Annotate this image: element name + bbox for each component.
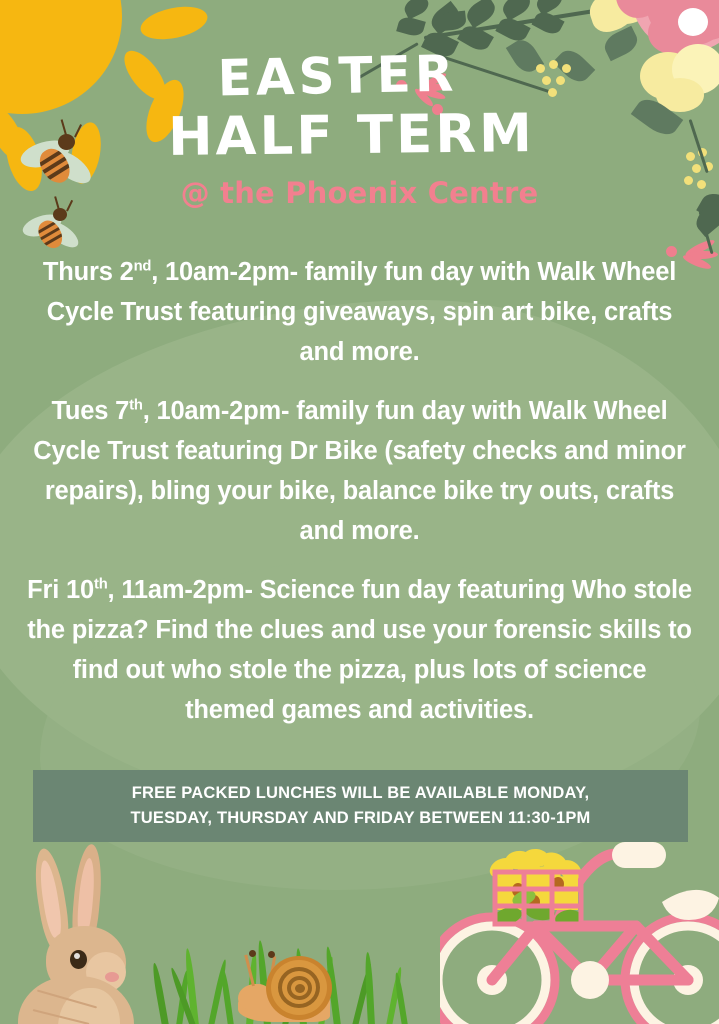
bicycle-illustration: [440, 840, 719, 1024]
event-paragraph: Fri 10th, 11am-2pm- Science fun day feat…: [20, 570, 699, 730]
free-lunch-line-1: FREE PACKED LUNCHES WILL BE AVAILABLE MO…: [132, 781, 590, 806]
event-paragraph: Tues 7th, 10am-2pm- family fun day with …: [20, 391, 699, 551]
event-date-ordinal: nd: [134, 259, 152, 275]
event-day-label: Thurs: [43, 258, 120, 286]
free-lunch-line-2: TUESDAY, THURSDAY AND FRIDAY BETWEEN 11:…: [130, 806, 590, 831]
event-description: , 11am-2pm- Science fun day featuring Wh…: [27, 576, 692, 724]
snail-illustration: [238, 948, 334, 1024]
free-lunch-banner: FREE PACKED LUNCHES WILL BE AVAILABLE MO…: [33, 770, 688, 842]
rabbit-illustration: [14, 848, 164, 1024]
poster-title-line-2: HALF TERM: [0, 106, 711, 165]
event-paragraph: Thurs 2nd, 10am-2pm- family fun day with…: [20, 252, 699, 372]
event-date-ordinal: th: [129, 398, 143, 414]
event-day-label: Tues: [51, 397, 115, 425]
bike-pedal-crank-icon: [571, 961, 609, 999]
poster-root: EASTER HALF TERM @ the Phoenix Centre Th…: [0, 0, 719, 1024]
event-date-number: 10: [66, 576, 94, 604]
event-date-number: 2: [120, 258, 134, 286]
event-date-ordinal: th: [94, 577, 108, 593]
event-date-number: 7: [115, 397, 129, 425]
bike-handlebar-grip-icon: [612, 842, 666, 868]
event-description: , 10am-2pm- family fun day with Walk Whe…: [33, 397, 685, 545]
poster-header: EASTER HALF TERM @ the Phoenix Centre: [0, 52, 719, 210]
poster-title-line-1: EASTER: [0, 44, 697, 108]
bike-basket-icon: [486, 848, 585, 928]
events-list: Thurs 2nd, 10am-2pm- family fun day with…: [20, 252, 699, 749]
poster-subtitle-venue: @ the Phoenix Centre: [0, 176, 719, 210]
event-day-label: Fri: [27, 576, 66, 604]
